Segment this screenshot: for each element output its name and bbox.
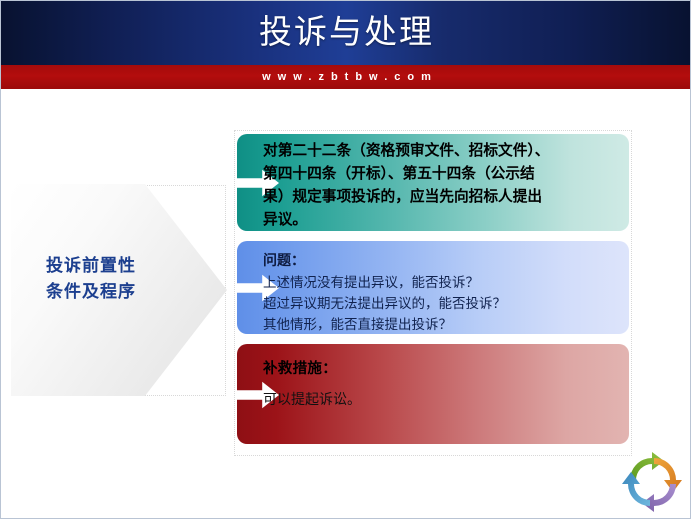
- remedy-card-body: 补救措施： 可以提起诉讼。: [263, 358, 621, 410]
- logo-arrow-green: [630, 452, 664, 480]
- left-arrow-label-line1: 投诉前置性: [11, 253, 171, 279]
- site-url: www.zbtbw.com: [1, 65, 691, 89]
- provision-line-3: 果）规定事项投诉的，应当先向招标人提出: [263, 185, 621, 208]
- page-title: 投诉与处理: [1, 9, 691, 55]
- question-line-3: 其他情形，能否直接提出投诉？: [263, 314, 621, 334]
- question-card[interactable]: 问题： 上述情况没有提出异议，能否投诉？ 超过异议期无法提出异议的，能否投诉？ …: [237, 241, 629, 334]
- provision-card-body: 对第二十二条（资格预审文件、招标文件）、 第四十四条（开标）、第五十四条（公示结…: [263, 139, 621, 231]
- question-card-heading: 问题：: [263, 250, 621, 272]
- slide-canvas: 投诉与处理 www.zbtbw.com 投诉前置性 条件及程序 对第二十二条（资…: [0, 0, 691, 519]
- provision-line-1: 对第二十二条（资格预审文件、招标文件）、: [263, 139, 621, 162]
- question-line-1: 上述情况没有提出异议，能否投诉？: [263, 272, 621, 293]
- provision-line-4: 异议。: [263, 208, 621, 231]
- remedy-card-heading: 补救措施：: [263, 358, 621, 380]
- slide-header-band: 投诉与处理: [1, 1, 691, 65]
- band-divider: [1, 89, 691, 92]
- left-arrow-label: 投诉前置性 条件及程序: [11, 253, 171, 305]
- logo-arrow-orange: [654, 458, 682, 492]
- left-arrow-label-line2: 条件及程序: [11, 279, 171, 305]
- question-card-body: 问题： 上述情况没有提出异议，能否投诉？ 超过异议期无法提出异议的，能否投诉？ …: [263, 250, 621, 334]
- remedy-spacer: [263, 380, 621, 389]
- cycle-arrows-logo: [618, 448, 686, 514]
- logo-arrow-purple: [642, 484, 676, 512]
- remedy-line-1: 可以提起诉讼。: [263, 389, 621, 410]
- url-band: www.zbtbw.com: [1, 65, 691, 89]
- provision-card[interactable]: 对第二十二条（资格预审文件、招标文件）、 第四十四条（开标）、第五十四条（公示结…: [237, 134, 629, 231]
- provision-line-2: 第四十四条（开标）、第五十四条（公示结: [263, 162, 621, 185]
- question-line-2: 超过异议期无法提出异议的，能否投诉？: [263, 293, 621, 314]
- remedy-card[interactable]: 补救措施： 可以提起诉讼。: [237, 344, 629, 444]
